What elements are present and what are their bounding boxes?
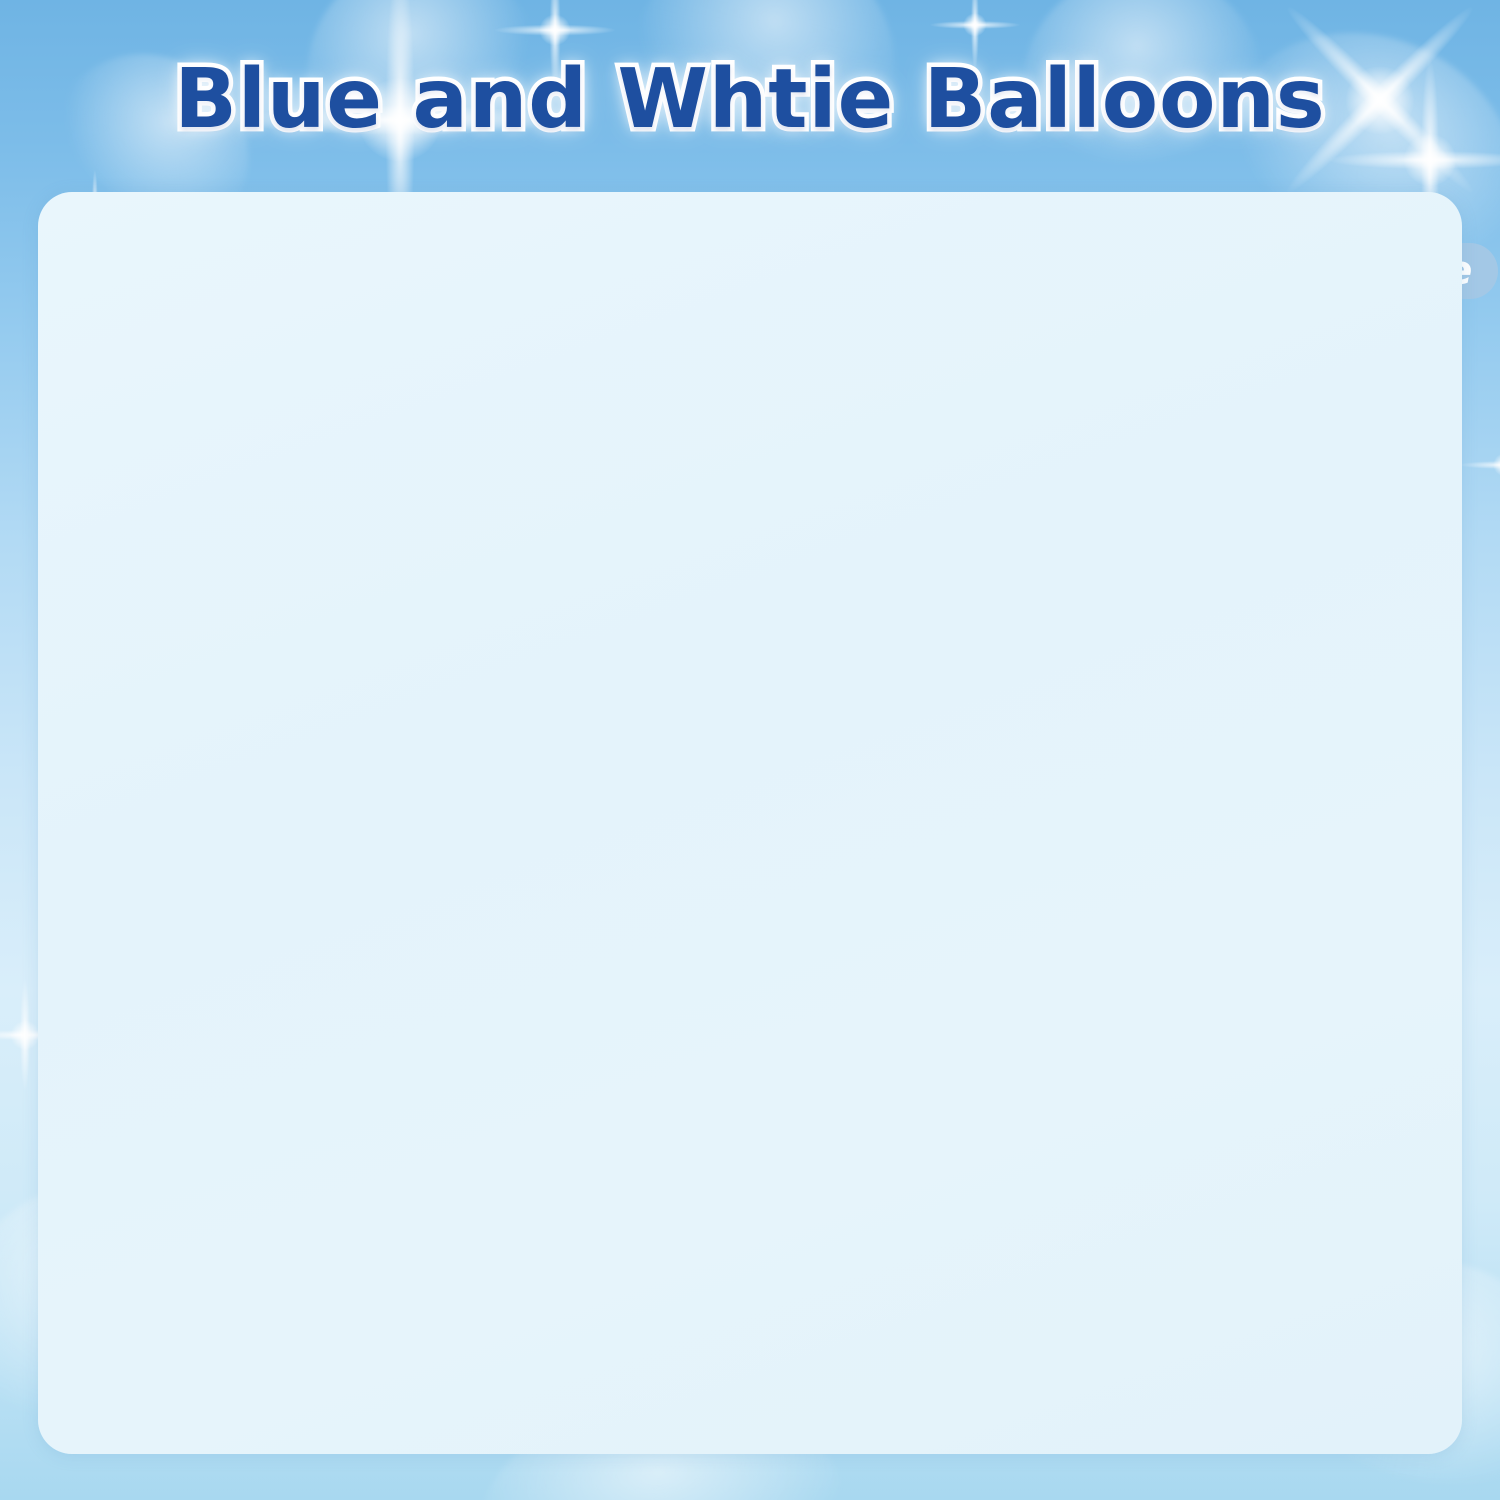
product-infographic: Blue and Whtie Balloons Pearl Blue 10inc…	[0, 0, 1500, 1500]
page-title: Blue and Whtie Balloons	[174, 52, 1325, 147]
title-banner: Blue and Whtie Balloons	[0, 52, 1500, 147]
sparkle-icon	[1460, 420, 1500, 510]
content-panel	[38, 192, 1462, 1454]
